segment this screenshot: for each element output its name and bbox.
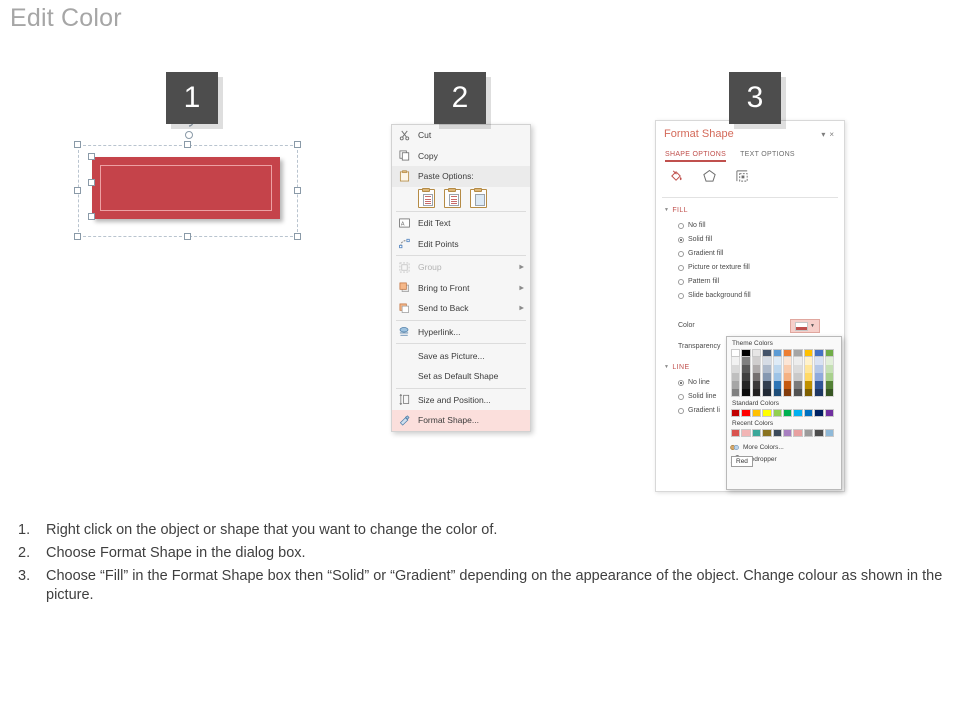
color-tooltip: Red [731,456,753,467]
standard-color-swatch[interactable] [731,409,740,417]
theme-color-variant-swatch[interactable] [783,389,792,397]
theme-color-variant-swatch[interactable] [773,373,782,381]
radio-gradient-line[interactable]: Gradient li [678,407,720,414]
resize-handle-nw[interactable] [74,141,81,148]
triangle-collapse-icon: ▼ [664,364,669,370]
theme-color-column[interactable] [773,349,782,397]
radio-label: Solid line [688,393,716,400]
theme-color-variant-swatch[interactable] [793,373,802,381]
line-section-heading[interactable]: ▼LINE [664,364,690,371]
recent-color-swatch[interactable] [773,429,782,437]
format-shape-icon [397,413,411,427]
color-label: Color [678,322,695,329]
size-position-icon [397,393,411,407]
instruction-text: Choose Format Shape in the dialog box. [46,544,948,563]
standard-color-swatch[interactable] [741,409,750,417]
theme-color-variant-swatch[interactable] [752,365,761,373]
menu-item-set-as-default-shape[interactable]: Set as Default Shape [392,366,530,387]
chevron-right-icon: ▶ [519,305,524,312]
copy-icon [397,149,411,163]
radio-indicator[interactable] [678,279,684,285]
standard-color-swatch[interactable] [793,409,802,417]
resize-handle-sw[interactable] [74,233,81,240]
theme-color-swatch[interactable] [804,349,813,357]
radio-indicator[interactable] [678,237,684,243]
fill-section-heading[interactable]: ▼FILL [664,207,688,214]
resize-handle-n[interactable] [184,141,191,148]
step-badge-3: 3 [729,72,781,124]
theme-color-swatch[interactable] [773,349,782,357]
menu-item-hyperlink[interactable]: Hyperlink... [392,322,530,343]
menu-separator [396,320,526,321]
menu-item-label: Send to Back [418,303,469,313]
more-colors-icon [730,443,740,452]
radio-indicator[interactable] [678,223,684,229]
svg-text:A: A [400,221,404,227]
theme-color-column[interactable] [731,349,740,397]
recent-color-swatch[interactable] [804,429,813,437]
chevron-down-icon[interactable]: ▼ [810,323,815,329]
pentagon-effects-icon[interactable] [702,169,717,185]
theme-color-variant-swatch[interactable] [731,389,740,397]
page-title: Edit Color [10,4,122,33]
theme-color-swatch[interactable] [814,349,823,357]
more-colors-label: More Colors... [743,444,784,451]
color-dropdown[interactable]: Theme Colors Standard Colors Recent Colo… [726,336,842,490]
theme-color-variant-swatch[interactable] [741,373,750,381]
inner-handle-sw[interactable] [88,213,95,220]
radio-indicator[interactable] [678,251,684,257]
theme-color-swatch[interactable] [783,349,792,357]
triangle-collapse-icon: ▼ [664,207,669,213]
theme-color-variant-swatch[interactable] [793,365,802,373]
theme-color-variant-swatch[interactable] [793,381,802,389]
theme-color-variant-swatch[interactable] [825,381,834,389]
menu-item-size-and-position[interactable]: Size and Position... [392,390,530,411]
resize-handle-w[interactable] [74,187,81,194]
menu-separator [396,255,526,256]
pane-title: Format Shape [664,128,734,140]
radio-indicator[interactable] [678,408,684,414]
menu-item-label: Group [418,262,442,272]
selected-shape-panel [78,145,298,237]
theme-color-variant-swatch[interactable] [804,357,813,365]
group-icon [397,260,411,274]
standard-color-swatch[interactable] [804,409,813,417]
resize-handle-ne[interactable] [294,141,301,148]
radio-label: No line [688,379,710,386]
transparency-label: Transparency [678,343,721,350]
theme-color-variant-swatch[interactable] [752,389,761,397]
instruction-number: 1. [18,521,46,540]
theme-color-variant-swatch[interactable] [804,381,813,389]
theme-color-column[interactable] [752,349,761,397]
theme-color-variant-swatch[interactable] [825,389,834,397]
menu-item-send-to-back[interactable]: Send to Back ▶ [392,298,530,319]
red-rectangle-shape[interactable] [92,157,280,219]
standard-color-swatch[interactable] [825,409,834,417]
theme-color-variant-swatch[interactable] [825,357,834,365]
fill-color-button[interactable]: ▼ [790,319,820,333]
standard-color-swatch[interactable] [752,409,761,417]
standard-colors-row[interactable] [727,409,841,417]
chevron-right-icon: ▶ [519,284,524,291]
recent-color-swatch[interactable] [731,429,740,437]
fill-bucket-icon[interactable] [669,169,684,185]
theme-color-variant-swatch[interactable] [773,381,782,389]
paste-merge-icon[interactable] [444,189,461,208]
theme-color-swatch[interactable] [731,349,740,357]
pane-tabs[interactable]: SHAPE OPTIONS TEXT OPTIONS [665,151,795,162]
recent-color-swatch[interactable] [752,429,761,437]
theme-color-variant-swatch[interactable] [752,381,761,389]
theme-color-variant-swatch[interactable] [773,365,782,373]
theme-color-variant-swatch[interactable] [804,389,813,397]
menu-item-label: Hyperlink... [418,327,461,337]
radio-slide-background-fill[interactable]: Slide background fill [678,292,751,299]
menu-item-label: Copy [418,151,438,161]
standard-colors-header: Standard Colors [727,397,841,409]
scissors-icon [397,128,411,142]
recent-color-swatch[interactable] [762,429,771,437]
theme-color-variant-swatch[interactable] [793,357,802,365]
recent-color-swatch[interactable] [825,429,834,437]
menu-item-label: Bring to Front [418,283,470,293]
menu-separator [396,211,526,212]
theme-color-variant-swatch[interactable] [814,357,823,365]
theme-color-variant-swatch[interactable] [793,389,802,397]
theme-color-variant-swatch[interactable] [783,357,792,365]
radio-label: Gradient li [688,407,720,414]
size-properties-icon[interactable] [735,169,750,185]
radio-label: No fill [688,222,706,229]
theme-color-variant-swatch[interactable] [814,381,823,389]
close-icon[interactable]: × [829,130,838,139]
hyperlink-icon [397,325,411,339]
menu-item-label: Size and Position... [418,395,491,405]
theme-color-swatch[interactable] [762,349,771,357]
pane-window-controls[interactable]: ▾× [821,130,838,139]
instruction-row: 2. Choose Format Shape in the dialog box… [18,544,948,563]
theme-color-swatch[interactable] [752,349,761,357]
theme-color-variant-swatch[interactable] [773,357,782,365]
theme-color-variant-swatch[interactable] [741,357,750,365]
theme-color-variant-swatch[interactable] [741,365,750,373]
menu-item-paste-options[interactable]: Paste Options: [392,166,530,187]
rotation-handle-dot[interactable] [185,131,193,139]
step-badge-2: 2 [434,72,486,124]
tab-text-options[interactable]: TEXT OPTIONS [740,151,795,162]
resize-handle-se[interactable] [294,233,301,240]
theme-color-variant-swatch[interactable] [825,365,834,373]
radio-no-line[interactable]: No line [678,379,710,386]
menu-item-edit-points[interactable]: Edit Points [392,233,530,254]
instruction-number: 2. [18,544,46,563]
theme-color-variant-swatch[interactable] [741,389,750,397]
paste-options-row[interactable] [392,187,530,210]
theme-color-variant-swatch[interactable] [762,357,771,365]
inner-handle-nw[interactable] [88,153,95,160]
radio-gradient-fill[interactable]: Gradient fill [678,250,723,257]
edit-points-icon [397,237,411,251]
radio-indicator[interactable] [678,265,684,271]
paste-picture-icon[interactable] [470,189,487,208]
theme-color-swatch[interactable] [793,349,802,357]
divider [662,197,838,198]
theme-color-variant-swatch[interactable] [804,365,813,373]
menu-item-label: Set as Default Shape [418,371,498,381]
menu-item-group[interactable]: Group ▶ [392,257,530,278]
theme-color-variant-swatch[interactable] [825,373,834,381]
recent-color-swatch[interactable] [814,429,823,437]
color-swatch [795,322,808,331]
menu-separator [396,388,526,389]
menu-item-label: Edit Points [418,239,459,249]
theme-color-column[interactable] [783,349,792,397]
menu-item-copy[interactable]: Copy [392,146,530,167]
radio-indicator[interactable] [678,394,684,400]
tab-shape-options[interactable]: SHAPE OPTIONS [665,151,726,162]
instruction-row: 3. Choose “Fill” in the Format Shape box… [18,567,948,605]
theme-color-variant-swatch[interactable] [762,381,771,389]
radio-picture-or-texture-fill[interactable]: Picture or texture fill [678,264,750,271]
resize-handle-s[interactable] [184,233,191,240]
menu-item-label: Save as Picture... [418,351,485,361]
more-colors-item[interactable]: More Colors... [727,441,841,453]
instruction-number: 3. [18,567,46,605]
menu-item-label: Format Shape... [418,415,479,425]
theme-color-column[interactable] [804,349,813,397]
menu-separator [396,343,526,344]
theme-color-variant-swatch[interactable] [814,365,823,373]
resize-handle-e[interactable] [294,187,301,194]
recent-colors-header: Recent Colors [727,417,841,429]
menu-item-save-as-picture[interactable]: Save as Picture... [392,345,530,366]
instruction-text: Choose “Fill” in the Format Shape box th… [46,567,948,605]
theme-color-variant-swatch[interactable] [752,357,761,365]
standard-color-swatch[interactable] [814,409,823,417]
theme-colors-header: Theme Colors [727,337,841,349]
bring-to-front-icon [397,281,411,295]
radio-solid-fill[interactable]: Solid fill [678,236,712,243]
menu-item-edit-text[interactable]: A Edit Text [392,213,530,234]
theme-color-variant-swatch[interactable] [731,365,740,373]
menu-item-bring-to-front[interactable]: Bring to Front ▶ [392,278,530,299]
theme-color-variant-swatch[interactable] [814,389,823,397]
adjust-handle-left[interactable] [88,179,95,186]
radio-indicator[interactable] [678,293,684,299]
theme-color-variant-swatch[interactable] [762,373,771,381]
theme-color-variant-swatch[interactable] [731,357,740,365]
radio-solid-line[interactable]: Solid line [678,393,716,400]
recent-colors-row[interactable] [727,429,841,437]
radio-label: Gradient fill [688,250,723,257]
radio-label: Solid fill [688,236,712,243]
menu-item-cut[interactable]: Cut [392,125,530,146]
chevron-right-icon: ▶ [519,264,524,271]
paste-icon [397,169,411,183]
instruction-text: Right click on the object or shape that … [46,521,948,540]
theme-color-swatch[interactable] [741,349,750,357]
recent-color-swatch[interactable] [783,429,792,437]
theme-color-column[interactable] [825,349,834,397]
theme-color-variant-swatch[interactable] [814,373,823,381]
theme-color-column[interactable] [762,349,771,397]
paste-keep-formatting-icon[interactable] [418,189,435,208]
menu-item-label: Paste Options: [418,171,474,181]
context-menu[interactable]: Cut Copy Paste Options: A Edit Text Edit… [391,124,531,432]
theme-color-variant-swatch[interactable] [762,389,771,397]
menu-item-label: Edit Text [418,218,450,228]
theme-color-variant-swatch[interactable] [804,373,813,381]
recent-color-swatch[interactable] [741,429,750,437]
standard-color-swatch[interactable] [773,409,782,417]
theme-color-column[interactable] [741,349,750,397]
theme-color-variant-swatch[interactable] [773,389,782,397]
theme-color-variant-swatch[interactable] [752,373,761,381]
theme-color-variant-swatch[interactable] [783,381,792,389]
standard-color-swatch[interactable] [762,409,771,417]
radio-pattern-fill[interactable]: Pattern fill [678,278,719,285]
theme-color-variant-swatch[interactable] [731,373,740,381]
standard-color-swatch[interactable] [783,409,792,417]
theme-color-column[interactable] [793,349,802,397]
radio-label: Picture or texture fill [688,264,750,271]
send-to-back-icon [397,301,411,315]
radio-indicator[interactable] [678,380,684,386]
step-badge-1: 1 [166,72,218,124]
theme-color-variant-swatch[interactable] [783,373,792,381]
radio-no-fill[interactable]: No fill [678,222,706,229]
instructions-list: 1. Right click on the object or shape th… [18,521,948,608]
radio-label: Slide background fill [688,292,751,299]
theme-colors-grid[interactable] [727,349,841,397]
theme-color-column[interactable] [814,349,823,397]
recent-color-swatch[interactable] [793,429,802,437]
instruction-row: 1. Right click on the object or shape th… [18,521,948,540]
theme-color-variant-swatch[interactable] [731,381,740,389]
menu-item-label: Cut [418,130,431,140]
theme-color-variant-swatch[interactable] [741,381,750,389]
pane-icon-row[interactable] [669,169,750,185]
menu-item-format-shape[interactable]: Format Shape... [392,410,530,431]
theme-color-swatch[interactable] [825,349,834,357]
radio-label: Pattern fill [688,278,719,285]
theme-color-variant-swatch[interactable] [783,365,792,373]
theme-color-variant-swatch[interactable] [762,365,771,373]
edit-text-icon: A [397,216,411,230]
